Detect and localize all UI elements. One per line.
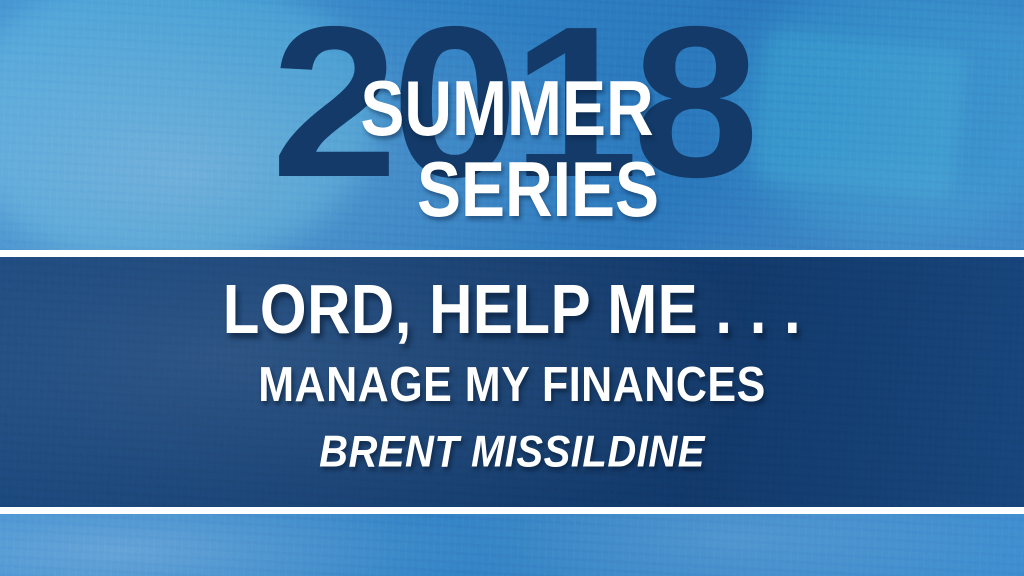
bottom-strip-texture: [0, 514, 1024, 576]
title-band: LORD, HELP ME . . . MANAGE MY FINANCES B…: [0, 257, 1024, 507]
speaker-name: BRENT MISSILDINE: [319, 428, 705, 475]
divider-bottom: [0, 507, 1024, 514]
sermon-title-slide: 2018 SUMMER SERIES LORD, HELP ME . . . M…: [0, 0, 1024, 576]
bottom-strip: [0, 514, 1024, 576]
series-name-line1: SUMMER: [0, 73, 1024, 144]
series-name-line2: SERIES: [52, 152, 1024, 225]
sermon-title: LORD, HELP ME . . .: [223, 274, 801, 346]
divider-top: [0, 250, 1024, 257]
sermon-subtitle: MANAGE MY FINANCES: [258, 360, 766, 410]
series-header: 2018 SUMMER SERIES: [0, 0, 1024, 252]
series-name: SUMMER SERIES: [0, 78, 1024, 220]
